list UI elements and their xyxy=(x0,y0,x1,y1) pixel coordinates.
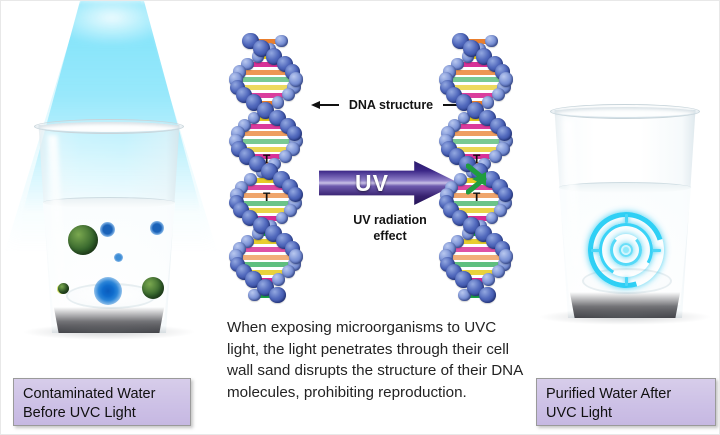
dna-backbone-bead xyxy=(272,96,284,108)
microorganism-virus xyxy=(68,225,98,255)
microorganism-virus xyxy=(142,277,164,299)
water-surface xyxy=(559,182,691,193)
glass-rim-inner xyxy=(39,122,179,132)
thymine-label-left-1: T xyxy=(263,152,270,166)
caption-left-line1: Contaminated Water xyxy=(23,385,181,404)
microorganism-virus xyxy=(58,283,69,294)
microorganism-particle xyxy=(100,222,115,237)
arrow-left-icon xyxy=(311,100,343,110)
water-surface xyxy=(43,197,175,208)
dna-backbone-bead xyxy=(499,72,514,87)
thymine-label-left-2: T xyxy=(263,190,270,204)
glass-rim-inner xyxy=(555,107,695,117)
dna-backbone-bead xyxy=(499,249,514,264)
uv-arrow-label: UV xyxy=(319,161,425,205)
dna-structure-label-text: DNA structure xyxy=(349,98,433,112)
thymine-dimer-icon xyxy=(466,162,502,196)
dna-backbone-bead xyxy=(289,72,304,87)
dna-backbone-bead xyxy=(275,35,288,48)
caption-right-line2: UVC Light xyxy=(546,404,706,423)
microorganism-particle xyxy=(114,253,123,262)
dna-backbone-bead xyxy=(479,287,496,304)
purified-water-panel xyxy=(536,96,716,366)
dna-backbone-bead xyxy=(482,273,495,286)
dna-backbone-bead xyxy=(276,212,289,225)
glass-drop-shadow xyxy=(22,324,196,340)
dna-backbone-bead xyxy=(486,212,499,225)
dna-backbone-bead xyxy=(485,35,498,48)
caption-purified-water: Purified Water After UVC Light xyxy=(536,378,716,426)
microorganism-particle xyxy=(150,221,164,235)
dna-backbone-bead xyxy=(272,273,285,286)
dna-backbone-bead xyxy=(289,249,304,264)
dna-backbone-bead xyxy=(269,287,286,304)
purification-ring-icon xyxy=(588,212,664,288)
dna-backbone-bead xyxy=(497,126,512,141)
caption-contaminated-water: Contaminated Water Before UVC Light xyxy=(13,378,191,426)
caption-left-line2: Before UVC Light xyxy=(23,404,181,423)
thymine-label-right-1: T xyxy=(473,152,480,166)
dna-backbone-bead xyxy=(279,150,292,163)
microorganism-group xyxy=(42,211,176,317)
caption-right-line1: Purified Water After xyxy=(546,385,706,404)
glass-drop-shadow xyxy=(538,309,712,325)
contaminated-water-glass xyxy=(34,119,184,341)
thymine-label-right-2: T xyxy=(473,190,480,204)
contaminated-water-panel xyxy=(1,1,216,373)
microorganism-particle xyxy=(94,277,122,305)
dna-backbone-bead xyxy=(489,150,502,163)
explanatory-paragraph: When exposing microorganisms to UVC ligh… xyxy=(227,317,527,403)
dna-backbone-bead xyxy=(482,96,494,108)
dna-backbone-bead xyxy=(287,126,302,141)
infographic-canvas: T T T T DNA structure UV UV radiation ef… xyxy=(0,0,720,435)
uv-radiation-arrow: UV xyxy=(319,161,459,205)
dna-helix-intact: T T xyxy=(216,26,316,306)
